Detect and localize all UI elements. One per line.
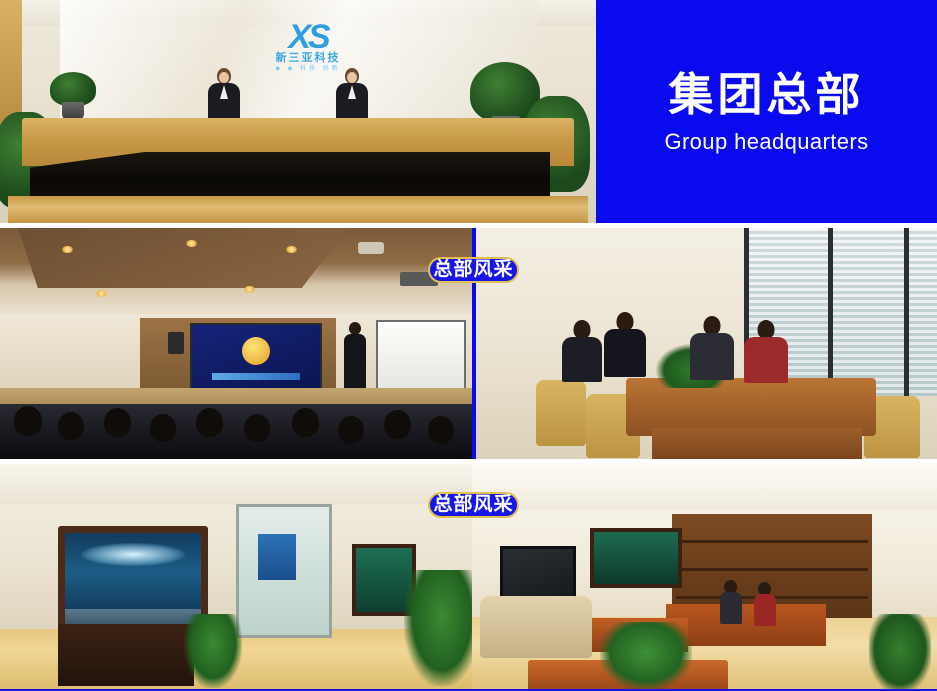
audience-head <box>428 416 454 444</box>
lounge-sofa <box>480 596 592 658</box>
meeting-room-scene <box>476 228 937 459</box>
headquarters-photo-gallery: XS 新三亚科技 ◆ ◆ 科技 创新 <box>0 0 937 691</box>
office-aquarium <box>590 528 682 588</box>
office-ceiling <box>472 464 937 510</box>
photo-training-room <box>0 228 472 459</box>
corner-plant <box>869 614 931 691</box>
whiteboard <box>376 320 466 390</box>
aquarium-light <box>81 543 184 567</box>
photo-executive-office <box>472 464 937 691</box>
attendee <box>690 316 734 392</box>
training-room-scene <box>0 228 472 459</box>
receptionist-face <box>347 72 357 83</box>
wall-speaker <box>168 332 184 354</box>
audience-head <box>244 414 270 442</box>
wall-poster <box>258 534 296 580</box>
photo-aquarium-lobby <box>0 464 472 691</box>
training-ceiling-slab <box>18 228 348 288</box>
ceiling-spotlight <box>96 290 107 297</box>
presenter-body <box>344 334 366 392</box>
attendee <box>604 312 646 390</box>
slide-title-bar <box>212 373 299 380</box>
slide-logo-icon <box>242 337 270 365</box>
shelf-row <box>676 540 868 543</box>
attendee-body <box>562 337 602 382</box>
attendee-body <box>604 329 646 377</box>
audience-head <box>384 410 411 439</box>
ceiling-spotlight <box>286 246 297 253</box>
badge-headquarters-style-row3: 总部风采 <box>428 492 519 518</box>
photo-glass-meeting-room <box>476 228 937 459</box>
ceiling-spotlight <box>62 246 73 253</box>
office-staff <box>754 582 776 626</box>
audience-head <box>14 406 42 436</box>
window-mullion <box>828 228 833 396</box>
office-staff <box>720 580 742 624</box>
headquarters-heading-cn: 集团总部 <box>668 69 864 121</box>
potted-plant <box>184 614 242 688</box>
shelf-row <box>676 568 868 571</box>
attendee <box>744 320 788 394</box>
headquarters-heading-en: Group headquarters <box>664 129 868 155</box>
receptionist-face <box>219 72 229 83</box>
audience-head <box>150 414 176 442</box>
lobby-ceiling <box>0 464 472 504</box>
attendee-body <box>744 337 788 383</box>
attendee <box>562 320 602 392</box>
projection-screen <box>190 323 322 393</box>
office-staff-body <box>720 592 742 624</box>
logo-mark: XS <box>249 22 367 52</box>
attendee-body <box>690 333 734 380</box>
reception-scene: XS 新三亚科技 ◆ ◆ 科技 创新 <box>0 0 596 223</box>
headquarters-title-panel: 集团总部 Group headquarters <box>596 0 937 223</box>
aquarium-lobby-scene <box>0 464 472 691</box>
aquarium-cabinet <box>58 624 194 686</box>
photo-reception-lobby: XS 新三亚科技 ◆ ◆ 科技 创新 <box>0 0 596 223</box>
audience-head <box>292 408 319 437</box>
potted-plant <box>404 570 472 686</box>
ceiling-spotlight <box>186 240 197 247</box>
logo-name-cn: 新三亚科技 <box>249 52 367 65</box>
office-staff-body <box>754 594 776 626</box>
receptionist-left <box>206 68 242 120</box>
audience-head <box>338 416 364 444</box>
audience-head <box>104 408 131 437</box>
audience-head <box>58 412 84 440</box>
presenter <box>344 322 366 392</box>
floor-plant <box>600 622 692 690</box>
audience-head <box>196 408 223 437</box>
ceiling-spotlight <box>244 286 255 293</box>
reception-desk-base <box>8 196 588 223</box>
plant-left <box>50 72 96 106</box>
executive-office-scene <box>472 464 937 691</box>
badge-headquarters-style-row2: 总部风采 <box>428 257 519 283</box>
meeting-table-front <box>652 428 862 459</box>
ceiling-projector <box>358 242 384 254</box>
receptionist-right <box>334 68 370 120</box>
window-mullion <box>904 228 909 396</box>
